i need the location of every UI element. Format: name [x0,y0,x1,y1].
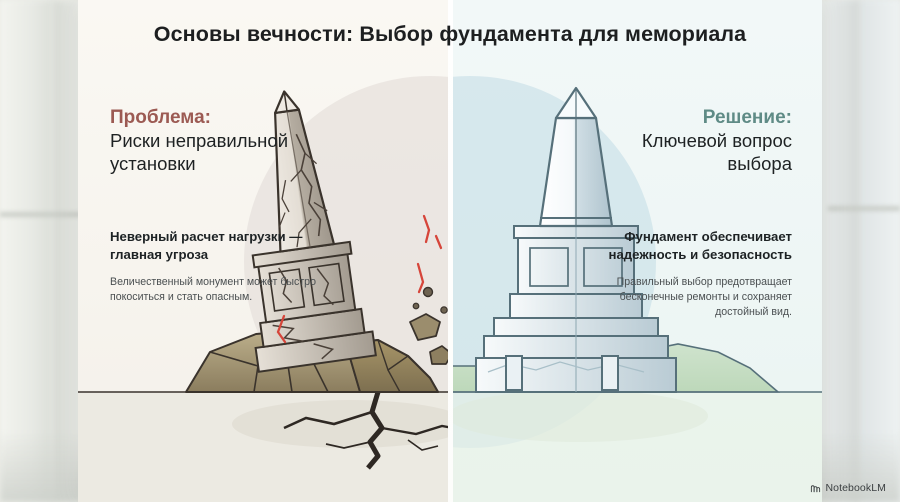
problem-subhead: Риски неправильной установки [110,130,346,176]
background-ledge-right [828,206,900,211]
infographic-card: Основы вечности: Выбор фундамента для ме… [78,0,822,502]
solution-description: Правильный выбор предотвращает бесконечн… [578,275,792,319]
slide-title: Основы вечности: Выбор фундамента для ме… [78,22,822,47]
solution-heading-group: Решение: Ключевой вопрос выбора [574,107,792,176]
notebooklm-watermark: NotebookLM [810,482,886,494]
problem-kicker: Проблема: [110,107,346,129]
problem-heading-group: Проблема: Риски неправильной установки [110,107,346,176]
solution-lead: Фундамент обеспечивает надежность и безо… [578,228,792,263]
solution-kicker: Решение: [574,107,792,129]
background-column-right-inner [830,0,860,502]
solution-subhead: Ключевой вопрос выбора [574,130,792,176]
background-column-left-inner [52,0,78,502]
problem-lead: Неверный расчет нагрузки — главная угроз… [110,228,330,263]
problem-description: Величественный монумент может быстро пок… [110,275,330,305]
solution-body-group: Фундамент обеспечивает надежность и безо… [578,228,792,320]
slide-canvas: Основы вечности: Выбор фундамента для ме… [0,0,900,502]
background-column-left-outer [0,0,52,502]
background-column-right-outer [860,0,900,502]
notebooklm-icon [810,483,821,494]
problem-body-group: Неверный расчет нагрузки — главная угроз… [110,228,330,305]
panel-divider [448,0,453,502]
background-ledge-left [0,212,80,217]
notebooklm-label: NotebookLM [825,482,886,494]
